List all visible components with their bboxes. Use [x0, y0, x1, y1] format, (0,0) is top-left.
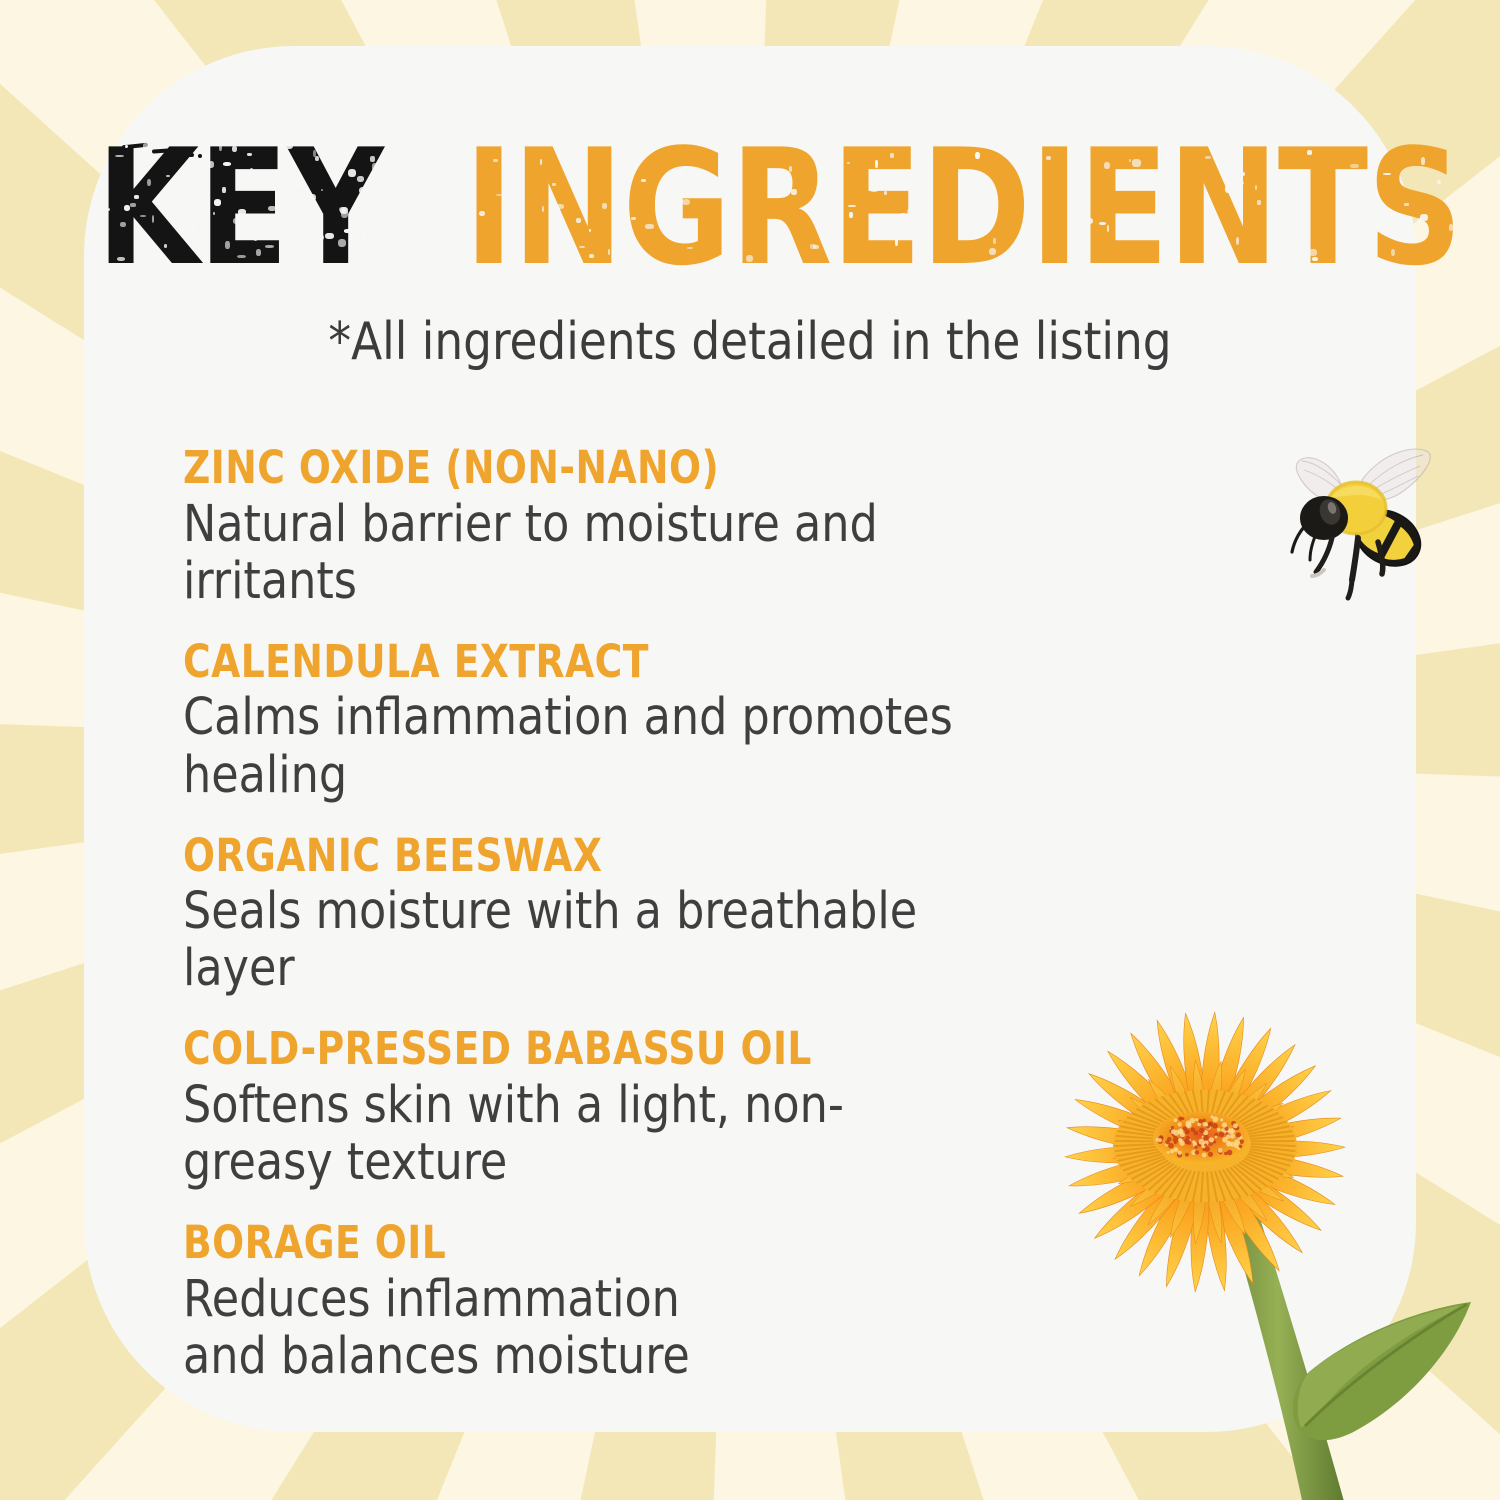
ingredient-description: Reduces inflammation and balances moistu… [183, 1271, 765, 1385]
ingredient-item: ZINC OXIDE (NON-NANO) Natural barrier to… [183, 444, 1063, 610]
ingredient-name: ORGANIC BEESWAX [183, 832, 1001, 881]
ingredient-description: Natural barrier to moisture and irritant… [183, 496, 1017, 610]
title-dash-marks-icon [122, 138, 212, 162]
ingredient-name: BORAGE OIL [183, 1219, 1001, 1268]
ingredient-description: Calms inflammation and promotes healing [183, 689, 1017, 803]
subtitle: *All ingredients detailed in the listing [104, 312, 1396, 372]
ingredient-name: ZINC OXIDE (NON-NANO) [183, 444, 1001, 493]
ingredient-description: Seals moisture with a breathable layer [183, 883, 1017, 997]
page-title: KEYINGREDIENTS [84, 128, 1416, 288]
ingredient-description: Softens skin with a light, non-greasy te… [183, 1077, 862, 1191]
infographic-canvas: KEYINGREDIENTS *All ingredients detailed… [0, 0, 1500, 1500]
bumblebee-icon [1286, 442, 1436, 602]
ingredient-name: COLD-PRESSED BABASSU OIL [183, 1025, 1001, 1074]
calendula-flower-icon [905, 930, 1500, 1500]
ingredient-item: CALENDULA EXTRACT Calms inflammation and… [183, 638, 1063, 804]
ingredient-name: CALENDULA EXTRACT [183, 638, 1001, 687]
title-word-ingredients: INGREDIENTS [465, 128, 1462, 288]
